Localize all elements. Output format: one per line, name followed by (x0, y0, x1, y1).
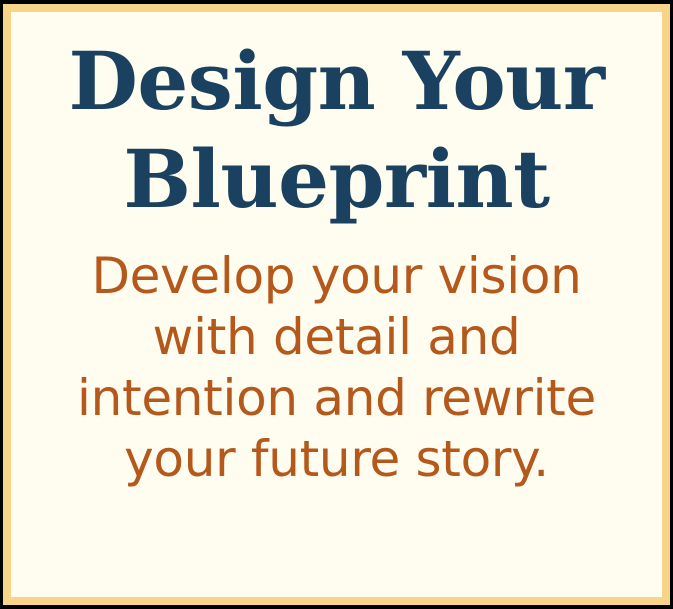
page-subtitle-line-1: Develop your vision (11, 246, 662, 307)
page-subtitle: Develop your vision with detail and inte… (11, 246, 662, 490)
page-subtitle-line-2: with detail and (11, 307, 662, 368)
page-subtitle-line-4: your future story. (11, 429, 662, 490)
card-content-panel: Design Your Blueprint Develop your visio… (11, 12, 662, 597)
page-title-line-1: Design Your (11, 32, 662, 130)
page-title-line-2: Blueprint (11, 130, 662, 228)
page-subtitle-line-3: intention and rewrite (11, 368, 662, 429)
page-title: Design Your Blueprint (11, 32, 662, 228)
card-golden-border: Design Your Blueprint Develop your visio… (3, 4, 670, 605)
promo-card: Design Your Blueprint Develop your visio… (0, 0, 673, 609)
